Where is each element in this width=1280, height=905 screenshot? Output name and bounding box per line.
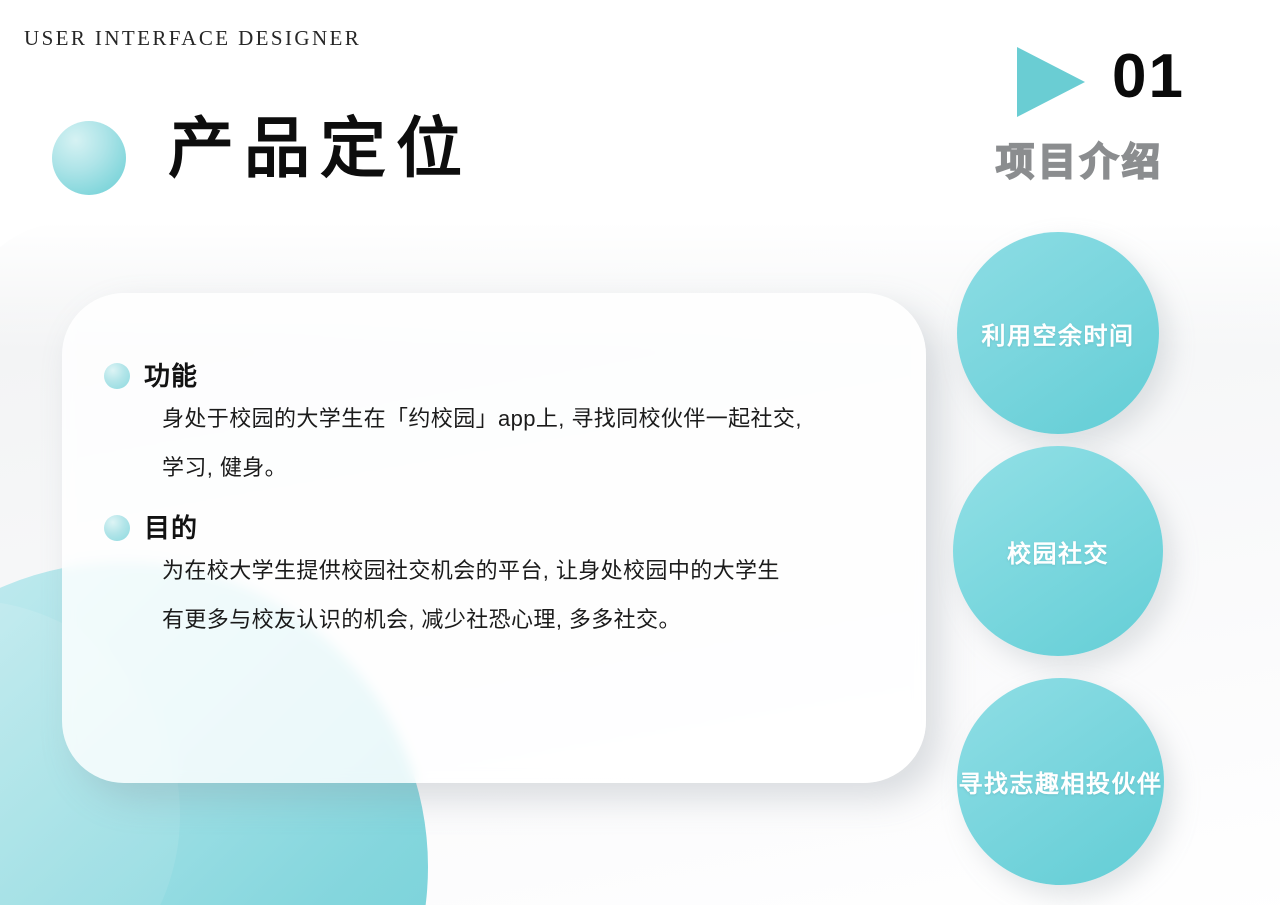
content-block-heading: 目的 bbox=[104, 515, 802, 541]
content-block-body: 为在校大学生提供校园社交机会的平台, 让身处校园中的大学生有更多与校友认识的机会… bbox=[162, 547, 802, 645]
keyword-bubble-1: 利用空余时间 bbox=[957, 232, 1159, 434]
list-bullet-icon bbox=[104, 363, 130, 389]
content-block-heading: 功能 bbox=[104, 363, 802, 389]
kicker-text: USER INTERFACE DESIGNER bbox=[24, 26, 361, 51]
play-triangle-icon bbox=[1017, 47, 1085, 117]
content-card: 功能 身处于校园的大学生在「约校园」app上, 寻找同校伙伴一起社交, 学习, … bbox=[62, 293, 926, 783]
page-title: 产品定位 bbox=[168, 114, 472, 183]
list-bullet-icon bbox=[104, 515, 130, 541]
section-number: 01 bbox=[1112, 46, 1185, 108]
content-block-label: 目的 bbox=[144, 515, 198, 541]
content-block-label: 功能 bbox=[144, 363, 198, 389]
keyword-bubble-3: 寻找志趣相投伙伴 bbox=[957, 678, 1164, 885]
content-block-function: 功能 身处于校园的大学生在「约校园」app上, 寻找同校伙伴一起社交, 学习, … bbox=[104, 363, 802, 493]
keyword-bubble-label: 寻找志趣相投伙伴 bbox=[959, 764, 1163, 799]
section-caption: 项目介绍 bbox=[996, 143, 1164, 185]
content-block-body: 身处于校园的大学生在「约校园」app上, 寻找同校伙伴一起社交, 学习, 健身。 bbox=[162, 395, 802, 493]
keyword-bubble-label: 利用空余时间 bbox=[982, 316, 1135, 351]
keyword-bubble-2: 校园社交 bbox=[953, 446, 1163, 656]
content-block-purpose: 目的 为在校大学生提供校园社交机会的平台, 让身处校园中的大学生有更多与校友认识… bbox=[104, 515, 802, 645]
keyword-bubble-label: 校园社交 bbox=[1007, 534, 1109, 569]
title-bullet-icon bbox=[52, 121, 126, 195]
slide-root: USER INTERFACE DESIGNER 产品定位 01 项目介绍 功能 … bbox=[0, 0, 1280, 905]
